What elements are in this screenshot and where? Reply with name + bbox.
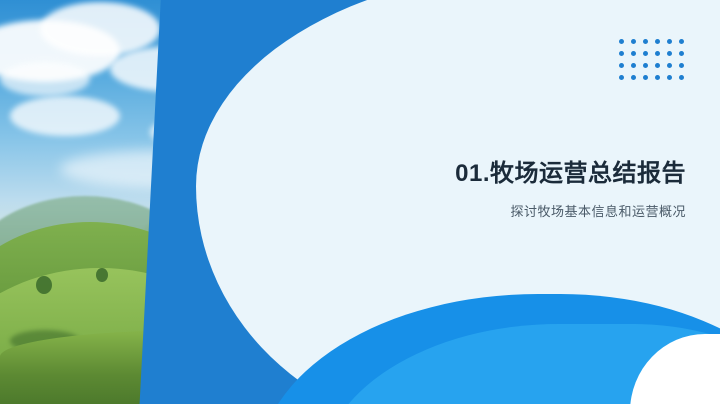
grid-dot: [667, 39, 672, 44]
grid-dot: [667, 63, 672, 68]
grid-dot: [631, 63, 636, 68]
cloud: [40, 2, 160, 56]
grid-dot: [655, 63, 660, 68]
grid-dot: [679, 63, 684, 68]
dot-grid-decoration: [616, 36, 688, 84]
slide-canvas: 01.牧场运营总结报告 探讨牧场基本信息和运营概况: [0, 0, 720, 404]
tree: [36, 276, 52, 294]
grid-dot: [619, 51, 624, 56]
grid-dot: [643, 39, 648, 44]
grid-dot: [619, 75, 624, 80]
grid-dot: [643, 75, 648, 80]
grid-dot: [655, 75, 660, 80]
cloud: [10, 96, 120, 136]
grid-dot: [667, 51, 672, 56]
slide-title: 01.牧场运营总结报告: [226, 160, 686, 189]
cloud: [0, 62, 90, 96]
grid-dot: [679, 51, 684, 56]
grid-dot: [655, 51, 660, 56]
grid-dot: [643, 51, 648, 56]
grid-dot: [679, 75, 684, 80]
grid-dot: [631, 51, 636, 56]
title-block: 01.牧场运营总结报告 探讨牧场基本信息和运营概况: [226, 160, 686, 220]
grid-dot: [619, 39, 624, 44]
tree: [96, 268, 108, 282]
grid-dot: [643, 63, 648, 68]
slide-subtitle: 探讨牧场基本信息和运营概况: [226, 201, 686, 220]
grid-dot: [655, 39, 660, 44]
grid-dot: [679, 39, 684, 44]
grid-dot: [667, 75, 672, 80]
grid-dot: [631, 75, 636, 80]
grid-dot: [619, 63, 624, 68]
grid-dot: [631, 39, 636, 44]
